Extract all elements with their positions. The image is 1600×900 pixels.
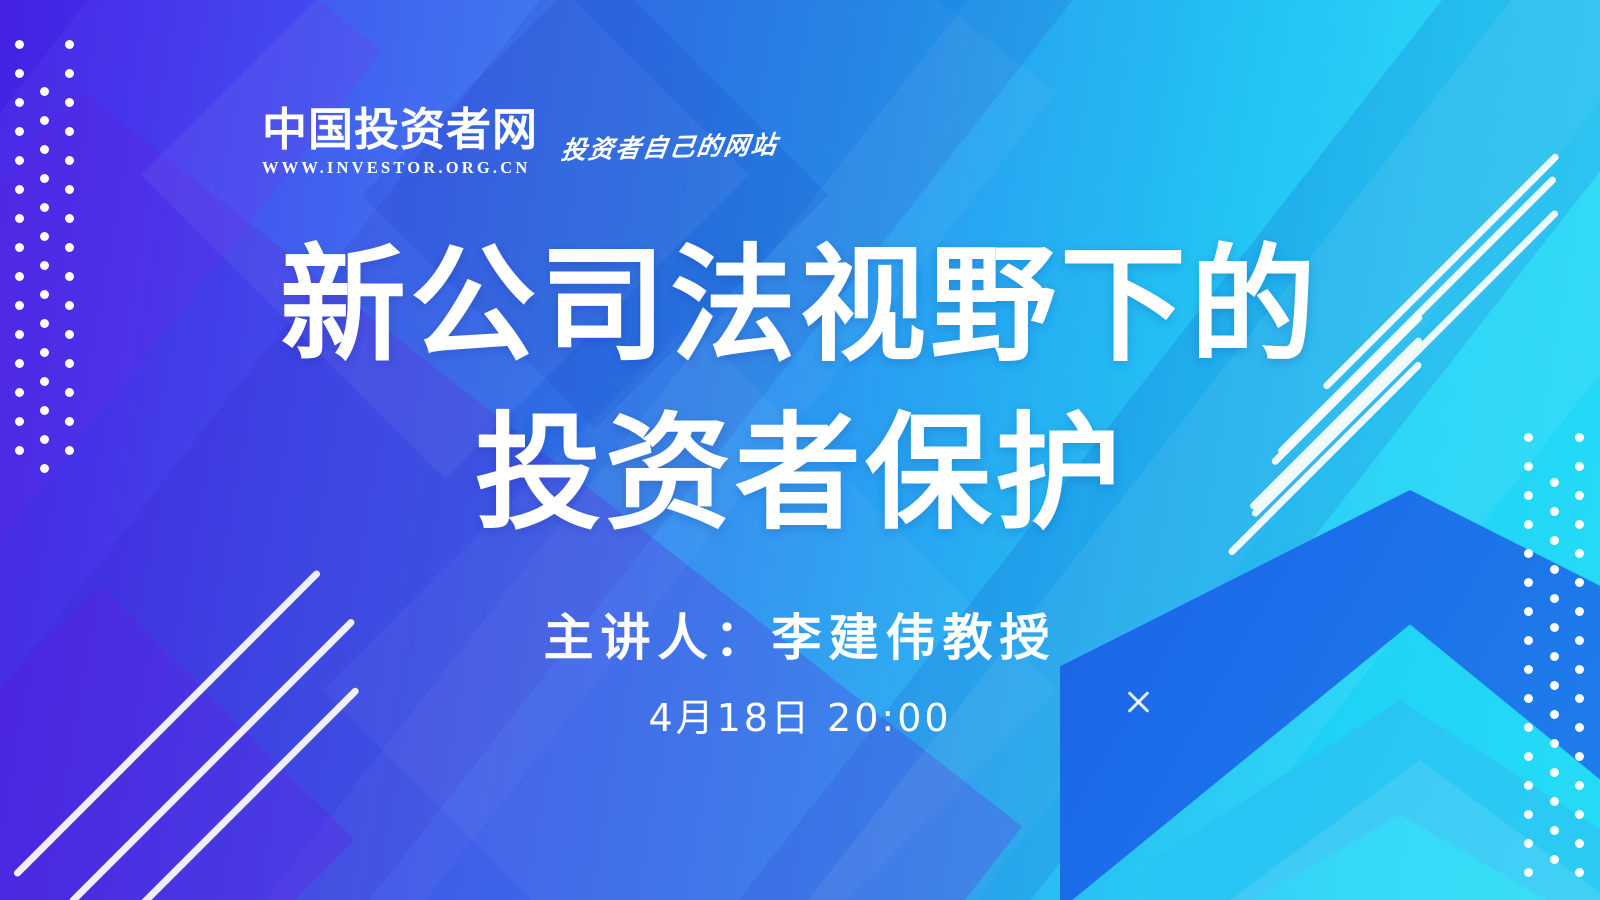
logo-text-group: 中国投资者网 WWW.INVESTOR.ORG.CN	[262, 106, 538, 178]
logo-slogan: 投资者自己的网站	[559, 125, 781, 167]
decorative-dot	[1524, 868, 1533, 877]
decorative-dot	[1550, 826, 1559, 835]
decorative-dot	[1575, 578, 1584, 587]
decorative-dot	[40, 174, 49, 183]
decorative-dot	[65, 69, 74, 78]
decorative-dot	[15, 156, 24, 165]
decorative-dot	[15, 185, 24, 194]
decorative-dot	[65, 98, 74, 107]
decorative-dot	[65, 127, 74, 136]
promo-poster: 中国投资者网 WWW.INVESTOR.ORG.CN 投资者自己的网站 新公司法…	[0, 0, 1600, 900]
logo-url: WWW.INVESTOR.ORG.CN	[262, 158, 538, 178]
decorative-dot	[1575, 810, 1584, 819]
headline-line-1: 新公司法视野下的	[0, 222, 1600, 390]
decorative-dot	[40, 203, 49, 212]
decorative-dot	[40, 116, 49, 125]
decorative-dot	[40, 87, 49, 96]
decorative-dot	[1524, 578, 1533, 587]
decorative-dot	[1550, 855, 1559, 864]
decorative-dot	[1524, 839, 1533, 848]
decorative-dot	[1575, 752, 1584, 761]
headline: 新公司法视野下的 投资者保护	[0, 222, 1600, 557]
decorative-dot	[65, 40, 74, 49]
decorative-dot	[15, 127, 24, 136]
headline-line-2: 投资者保护	[0, 390, 1600, 558]
decorative-dot	[65, 185, 74, 194]
decorative-dot	[1524, 752, 1533, 761]
decorative-dot	[15, 98, 24, 107]
decorative-dot	[1550, 768, 1559, 777]
decorative-dot	[40, 145, 49, 154]
decorative-dot	[1575, 839, 1584, 848]
decorative-dot	[1524, 781, 1533, 790]
speaker-label: 主讲人：李建伟教授	[0, 598, 1600, 670]
decorative-dot	[1550, 797, 1559, 806]
schedule-datetime: 4月18日 20:00	[0, 687, 1600, 742]
decorative-dot	[65, 156, 74, 165]
decorative-dot	[1575, 781, 1584, 790]
decorative-dot	[1575, 868, 1584, 877]
logo-name: 中国投资者网	[262, 106, 538, 153]
decorative-dot	[1524, 810, 1533, 819]
decorative-dot	[15, 40, 24, 49]
decorative-dot	[15, 69, 24, 78]
decorative-dot	[1550, 565, 1559, 574]
site-logo: 中国投资者网 WWW.INVESTOR.ORG.CN 投资者自己的网站	[262, 106, 778, 178]
